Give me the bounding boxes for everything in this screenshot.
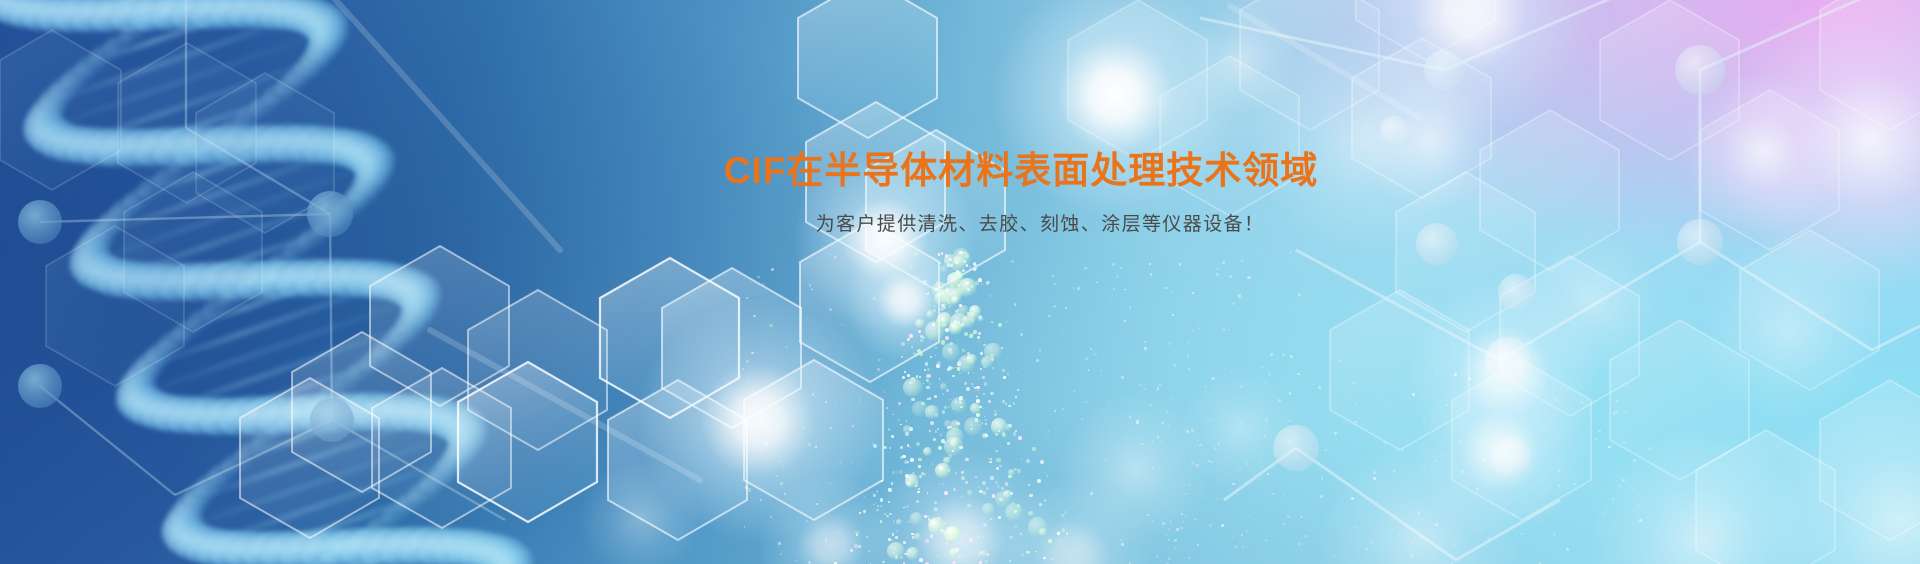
banner-text-block: CIF在半导体材料表面处理技术领域 为客户提供清洗、去胶、刻蚀、涂层等仪器设备！ — [0, 148, 1920, 240]
particle-burst-layer — [0, 0, 1920, 564]
banner-headline: CIF在半导体材料表面处理技术领域 — [0, 148, 1920, 194]
hero-banner: CIF在半导体材料表面处理技术领域 为客户提供清洗、去胶、刻蚀、涂层等仪器设备！ — [0, 0, 1920, 564]
banner-subtitle: 为客户提供清洗、去胶、刻蚀、涂层等仪器设备！ — [0, 211, 1920, 240]
